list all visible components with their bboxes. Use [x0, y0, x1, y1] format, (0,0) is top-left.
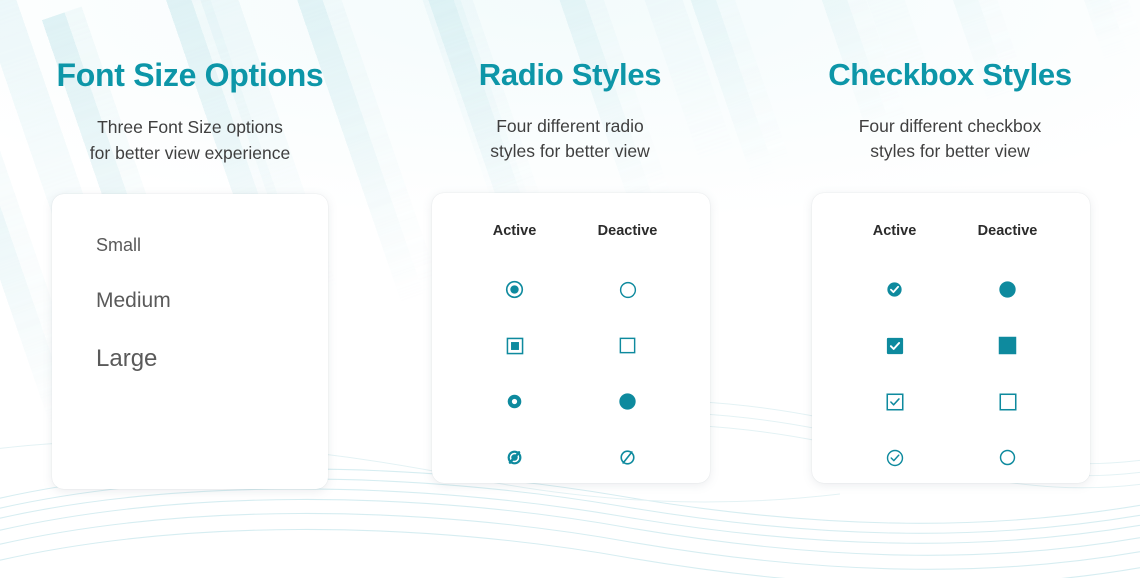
check-square-outline-icon[interactable] — [838, 374, 951, 430]
subtitle-line-1: Four different radio — [432, 114, 708, 139]
card-radio-styles: Active Deactive — [432, 193, 710, 483]
subtitle-line-1: Three Font Size options — [52, 115, 328, 140]
radio-styles-grid: Active Deactive — [432, 223, 710, 486]
check-square-filled-icon[interactable] — [838, 318, 951, 374]
circle-solid-icon[interactable] — [951, 262, 1064, 318]
subtitle-line-2: styles for better view — [812, 139, 1088, 164]
feature-columns: Font Size Options Three Font Size option… — [0, 0, 1140, 489]
radio-square-outline-icon[interactable] — [571, 318, 684, 374]
page-title-radio-styles: Radio Styles — [432, 58, 708, 92]
circle-outline-icon[interactable] — [951, 430, 1064, 486]
subtitle-font-size: Three Font Size options for better view … — [52, 115, 328, 166]
subtitle-line-2: for better view experience — [52, 141, 328, 166]
checkbox-styles-grid: Active Deactive — [812, 223, 1090, 486]
subtitle-radio-styles: Four different radio styles for better v… — [432, 114, 708, 165]
card-font-sizes: Small Medium Large — [52, 194, 328, 489]
column-header-deactive: Deactive — [571, 223, 684, 262]
radio-square-filled-dot-icon[interactable] — [458, 318, 571, 374]
page-title-font-size: Font Size Options — [52, 58, 328, 93]
square-outline-icon[interactable] — [951, 374, 1064, 430]
column-checkbox-styles: Checkbox Styles Four different checkbox … — [760, 58, 1140, 489]
radio-circle-solid-icon[interactable] — [571, 374, 684, 430]
radio-circle-filled-dot-icon[interactable] — [458, 262, 571, 318]
radio-circle-outline-icon[interactable] — [571, 262, 684, 318]
card-checkbox-styles: Active Deactive — [812, 193, 1090, 483]
radio-donut-filled-icon[interactable] — [458, 374, 571, 430]
page-root: Font Size Options Three Font Size option… — [0, 0, 1140, 578]
subtitle-line-1: Four different checkbox — [812, 114, 1088, 139]
font-size-option-large[interactable]: Large — [96, 347, 328, 371]
square-solid-icon[interactable] — [951, 318, 1064, 374]
column-header-deactive: Deactive — [951, 223, 1064, 262]
page-title-checkbox-styles: Checkbox Styles — [812, 58, 1088, 92]
column-radio-styles: Radio Styles Four different radio styles… — [380, 58, 760, 489]
column-header-active: Active — [838, 223, 951, 262]
subtitle-line-2: styles for better view — [432, 139, 708, 164]
radio-circle-slash-outline-icon[interactable] — [571, 430, 684, 486]
column-header-active: Active — [458, 223, 571, 262]
check-circle-filled-icon[interactable] — [838, 262, 951, 318]
check-circle-outline-icon[interactable] — [838, 430, 951, 486]
font-size-option-small[interactable]: Small — [96, 236, 328, 254]
subtitle-checkbox-styles: Four different checkbox styles for bette… — [812, 114, 1088, 165]
font-size-option-medium[interactable]: Medium — [96, 290, 328, 311]
column-font-size-options: Font Size Options Three Font Size option… — [0, 58, 380, 489]
radio-circle-slash-filled-icon[interactable] — [458, 430, 571, 486]
